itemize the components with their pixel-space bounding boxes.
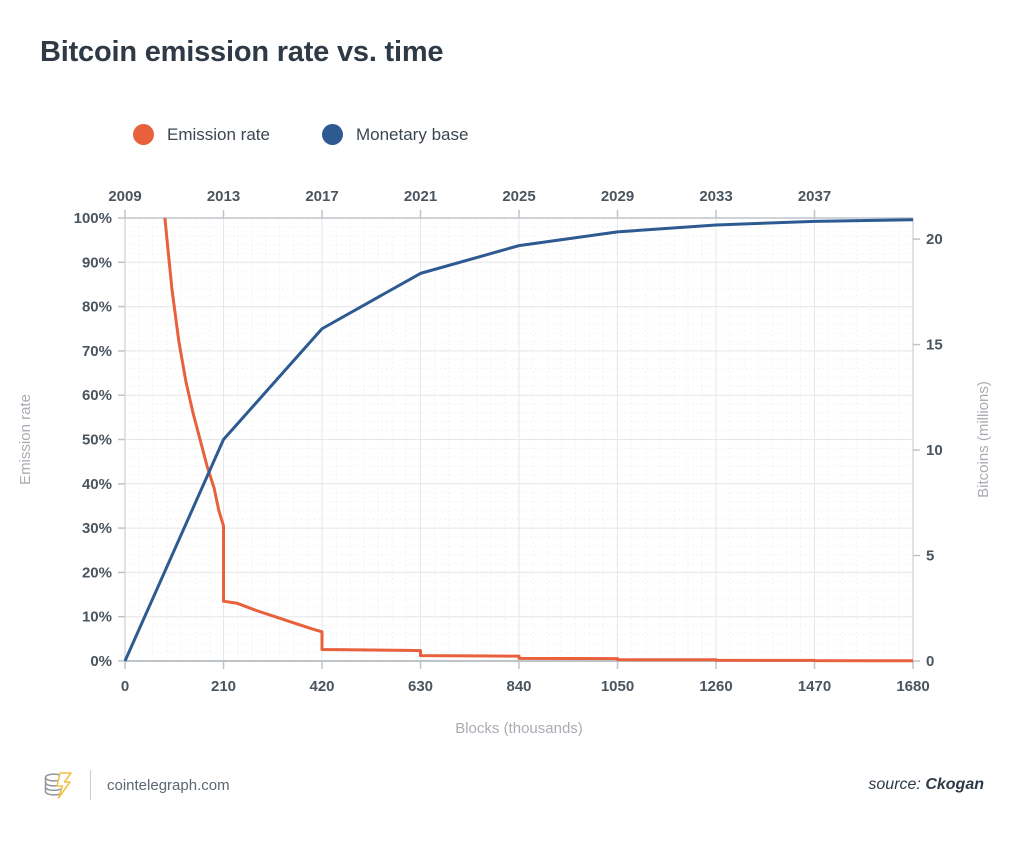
x-tick-label: 0: [121, 678, 129, 695]
chart-plot-area: 0%10%20%30%40%50%60%70%80%90%100%0510152…: [0, 170, 1024, 740]
y-tick-label: 70%: [82, 343, 112, 360]
x-tick-label: 1260: [699, 678, 732, 695]
y2-tick-label: 10: [926, 442, 943, 459]
y-tick-label: 80%: [82, 299, 112, 316]
y2-tick-label: 0: [926, 653, 934, 670]
x-tick-label: 210: [211, 678, 236, 695]
x-tick-label: 420: [309, 678, 334, 695]
top-x-tick-label: 2009: [108, 188, 141, 205]
legend-item-monetary-base[interactable]: Monetary base: [322, 124, 468, 145]
legend-label: Monetary base: [356, 125, 468, 145]
y-tick-label: 30%: [82, 520, 112, 537]
top-x-tick-label: 2033: [699, 188, 732, 205]
y2-axis-title: Bitcoins (millions): [975, 381, 992, 498]
x-tick-label: 840: [506, 678, 531, 695]
chart-svg: 0%10%20%30%40%50%60%70%80%90%100%0510152…: [0, 170, 1024, 740]
chart-footer: cointelegraph.com source: Ckogan: [0, 750, 1024, 845]
circle-marker-icon: [322, 124, 343, 145]
y-axis-title: Emission rate: [17, 394, 34, 485]
footer-source: source: Ckogan: [868, 776, 984, 794]
footer-divider: [90, 770, 91, 800]
major-gridlines: [125, 218, 913, 661]
top-x-tick-label: 2017: [305, 188, 338, 205]
y2-tick-label: 15: [926, 337, 943, 354]
top-x-tick-label: 2029: [601, 188, 634, 205]
y-tick-label: 90%: [82, 254, 112, 271]
y-tick-label: 0%: [90, 653, 112, 670]
y2-tick-label: 20: [926, 231, 943, 248]
x-tick-label: 1680: [896, 678, 929, 695]
footer-source-name: Ckogan: [925, 776, 984, 793]
x-tick-label: 1050: [601, 678, 634, 695]
top-x-tick-label: 2021: [404, 188, 437, 205]
cointelegraph-logo-icon: [40, 768, 74, 802]
page-title: Bitcoin emission rate vs. time: [40, 36, 443, 69]
chart-card: Bitcoin emission rate vs. time Emission …: [0, 0, 1024, 845]
x-tick-label: 630: [408, 678, 433, 695]
y-tick-label: 50%: [82, 432, 112, 449]
top-x-tick-label: 2037: [798, 188, 831, 205]
y-tick-label: 40%: [82, 476, 112, 493]
y-tick-label: 10%: [82, 609, 112, 626]
x-tick-label: 1470: [798, 678, 831, 695]
y-tick-label: 60%: [82, 387, 112, 404]
footer-brand: cointelegraph.com: [40, 768, 230, 802]
legend-label: Emission rate: [167, 125, 270, 145]
top-x-tick-label: 2025: [502, 188, 535, 205]
x-axis-title: Blocks (thousands): [455, 720, 583, 737]
y-tick-label: 20%: [82, 564, 112, 581]
chart-legend: Emission rate Monetary base: [133, 124, 468, 145]
circle-marker-icon: [133, 124, 154, 145]
footer-site-label[interactable]: cointelegraph.com: [107, 777, 230, 794]
y2-tick-label: 5: [926, 548, 934, 565]
top-x-tick-label: 2013: [207, 188, 240, 205]
y-tick-label: 100%: [74, 210, 112, 227]
legend-item-emission-rate[interactable]: Emission rate: [133, 124, 270, 145]
footer-source-prefix: source:: [868, 776, 925, 793]
